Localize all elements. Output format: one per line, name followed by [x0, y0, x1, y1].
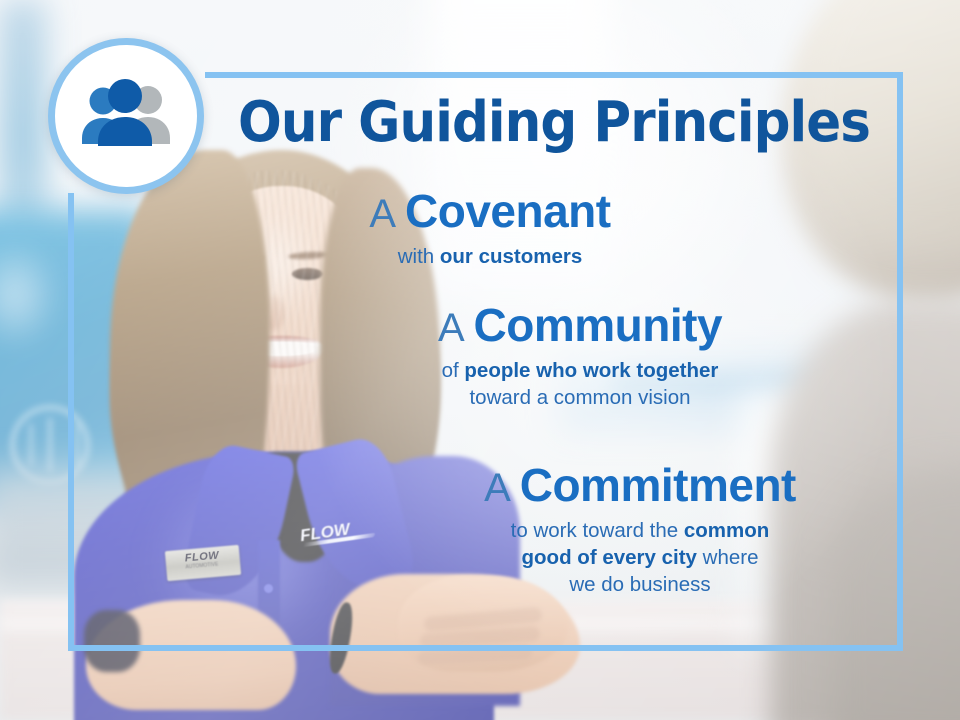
subtext-run: we do business: [569, 573, 710, 596]
principle-commitment: A Commitment to work toward the common g…: [400, 462, 880, 599]
subtext-run-bold: common: [684, 519, 769, 542]
page-title: Our Guiding Principles: [233, 94, 875, 151]
subtext-run: where: [697, 546, 759, 569]
photo-board-highlight: [0, 240, 60, 350]
principle-community: A Community of people who work together …: [340, 302, 820, 411]
subtext-run-bold: good of every city: [522, 546, 697, 569]
principle-subtext: of people who work together toward a com…: [340, 357, 820, 412]
people-group-badge: [48, 38, 204, 194]
principle-subtext: with our customers: [300, 243, 680, 270]
frame-border-right: [897, 72, 903, 651]
subtext-run: of: [442, 359, 465, 382]
principle-subtext-line: we do business: [400, 571, 880, 598]
principle-article: A: [438, 306, 474, 350]
subtext-run-bold: people who work together: [464, 359, 718, 382]
principle-keyword: Covenant: [405, 185, 611, 237]
poster-canvas: FLOW AUTOMOTIVE FLOW: [0, 0, 960, 720]
principle-subtext: to work toward the common good of every …: [400, 517, 880, 599]
frame-border-left: [68, 193, 74, 651]
frame-border-bottom: [68, 645, 903, 651]
principle-title: A Commitment: [400, 462, 880, 510]
principle-title: A Covenant: [300, 188, 680, 236]
principle-covenant: A Covenant with our customers: [300, 188, 680, 270]
frame-border-top: [205, 72, 903, 78]
people-group-icon: [74, 79, 178, 153]
principle-keyword: Commitment: [520, 459, 796, 511]
principle-subtext-line: good of every city where: [400, 544, 880, 571]
principle-article: A: [484, 466, 520, 510]
employee-shirt-button: [264, 584, 273, 593]
subtext-run-bold: our customers: [440, 245, 582, 268]
principle-title: A Community: [340, 302, 820, 350]
principle-article: A: [369, 192, 405, 236]
principle-subtext-line: of people who work together: [340, 357, 820, 384]
principle-subtext-line: to work toward the common: [400, 517, 880, 544]
photo-left-edge-glow: [0, 0, 46, 230]
principle-keyword: Community: [474, 299, 723, 351]
subtext-run: toward a common vision: [469, 386, 690, 409]
subtext-run: to work toward the: [511, 519, 684, 542]
subtext-run: with: [398, 245, 440, 268]
employee-sleeve-band: [84, 610, 140, 672]
principle-subtext-line: toward a common vision: [340, 384, 820, 411]
principle-subtext-line: with our customers: [398, 245, 583, 268]
